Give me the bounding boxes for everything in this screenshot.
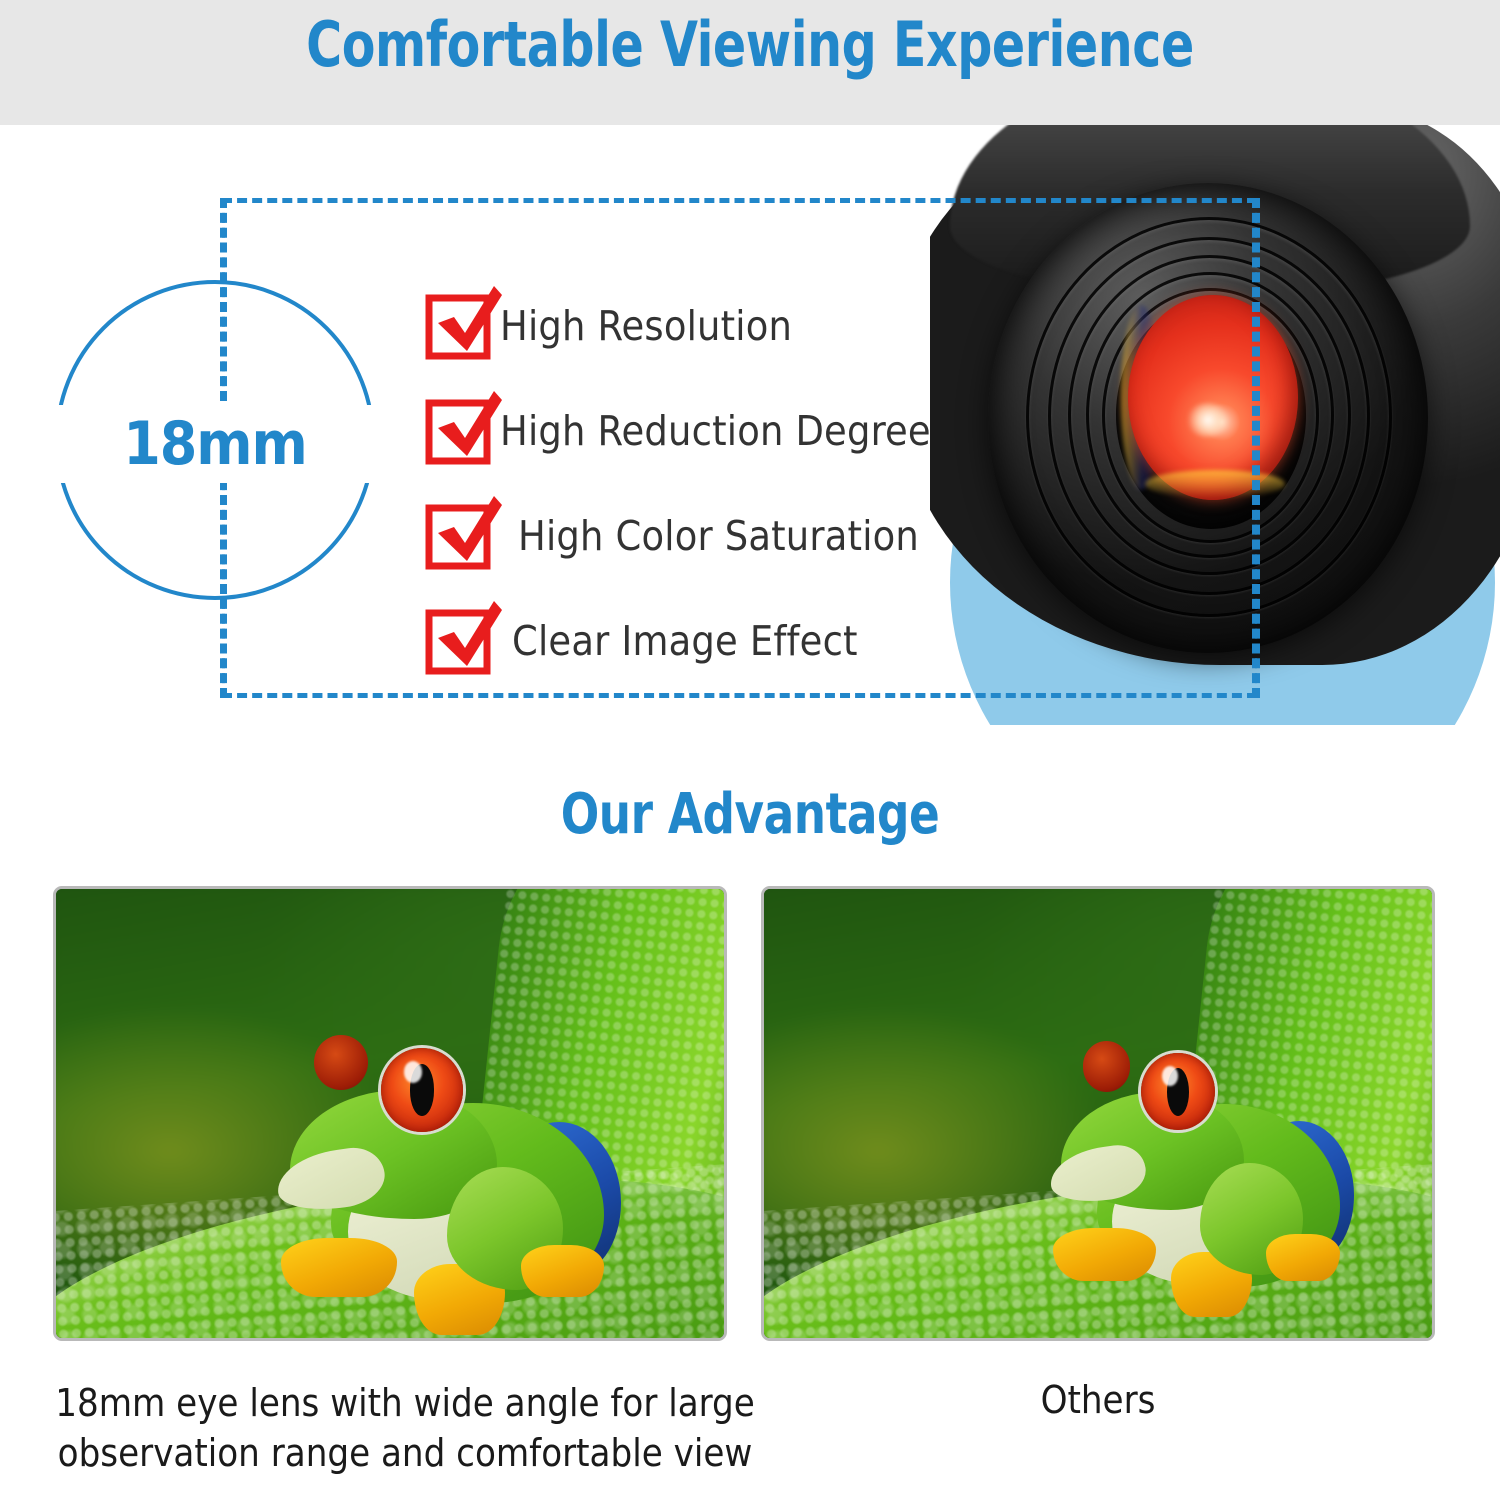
frog-eye-gloss [1162, 1066, 1178, 1086]
frog-eye-gloss [404, 1061, 422, 1083]
frog-near-eye [381, 1048, 464, 1132]
red-checkbox-icon [428, 610, 490, 672]
frog-scene-wide [56, 889, 724, 1338]
feature-label: High Reduction Degree [500, 407, 931, 455]
frog-far-eye [1083, 1041, 1131, 1091]
feature-item-high-reduction-degree: High Reduction Degree [428, 395, 931, 467]
feature-label: High Resolution [500, 302, 792, 350]
frog-front-foot [1053, 1228, 1156, 1281]
feature-label: High Color Saturation [500, 512, 919, 560]
feature-item-clear-image-effect: Clear Image Effect [428, 605, 931, 677]
frog-far-eye [314, 1035, 368, 1090]
feature-list: High Resolution High Reduction Degree Hi… [428, 290, 931, 677]
feature-item-high-resolution: High Resolution [428, 290, 931, 362]
eyepiece-diameter-label: 18mm [55, 405, 375, 483]
tree-frog [1031, 1015, 1398, 1311]
comparison-photo-others [761, 886, 1435, 1341]
red-checkbox-icon [428, 295, 490, 357]
tree-frog [256, 1006, 670, 1329]
feature-item-high-color-saturation: High Color Saturation [428, 500, 931, 572]
frog-rear-foot [1266, 1234, 1339, 1281]
page-title: Comfortable Viewing Experience [90, 8, 1410, 81]
measurement-lens-line [1255, 198, 1260, 698]
frog-near-eye [1141, 1053, 1214, 1130]
feature-label: Clear Image Effect [500, 617, 858, 665]
caption-others: Others [761, 1378, 1435, 1422]
advantage-title: Our Advantage [75, 782, 1425, 847]
red-checkbox-icon [428, 505, 490, 567]
frog-scene-narrow [764, 889, 1432, 1338]
comparison-photo-ours [53, 886, 727, 1341]
red-checkbox-icon [428, 400, 490, 462]
caption-ours: 18mm eye lens with wide angle for large … [55, 1378, 755, 1478]
frog-rear-foot [521, 1245, 604, 1297]
feature-section: 18mm High Resolution High Reduction Degr… [0, 125, 1500, 735]
frog-front-foot [281, 1238, 397, 1296]
